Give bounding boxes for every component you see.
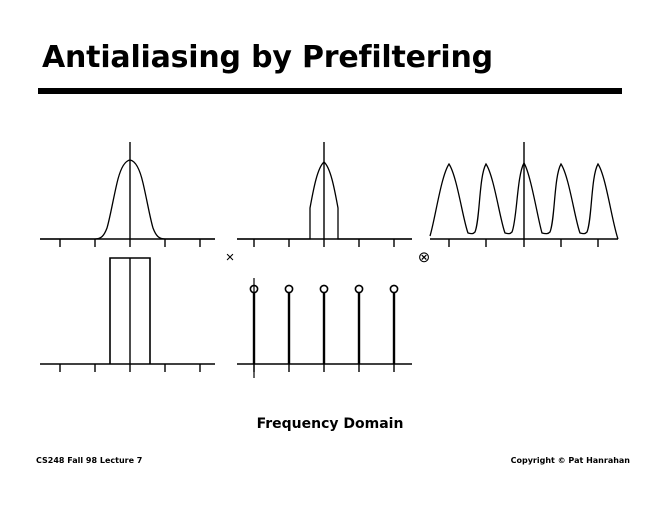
impulse-markers bbox=[250, 285, 397, 292]
figure-caption: Frequency Domain bbox=[0, 416, 660, 432]
plot-replicated-spectra bbox=[430, 142, 618, 247]
plot-signal-spectrum bbox=[40, 142, 215, 247]
axis-ticks bbox=[254, 239, 394, 247]
plot-filtered-spectrum bbox=[237, 142, 412, 247]
frequency-domain-figure: × ⊗ bbox=[0, 100, 660, 400]
footer-copyright: Copyright © Pat Hanrahan bbox=[511, 456, 630, 465]
axis-ticks bbox=[254, 364, 394, 372]
impulse-stems bbox=[254, 293, 394, 364]
footer-course-label: CS248 Fall 98 Lecture 7 bbox=[36, 456, 142, 465]
title-divider bbox=[38, 88, 622, 94]
page-title: Antialiasing by Prefiltering bbox=[42, 40, 493, 75]
multiply-operator: × bbox=[226, 249, 235, 266]
axis-ticks bbox=[449, 239, 598, 247]
convolve-operator: ⊗ bbox=[418, 249, 431, 266]
axis-ticks bbox=[60, 364, 200, 372]
slide-canvas: Antialiasing by Prefiltering × bbox=[0, 0, 660, 510]
axis-ticks bbox=[60, 239, 200, 247]
plot-sampling-comb bbox=[237, 278, 412, 378]
spectrum-curve bbox=[40, 160, 215, 239]
plot-prefilter-box bbox=[40, 258, 215, 372]
